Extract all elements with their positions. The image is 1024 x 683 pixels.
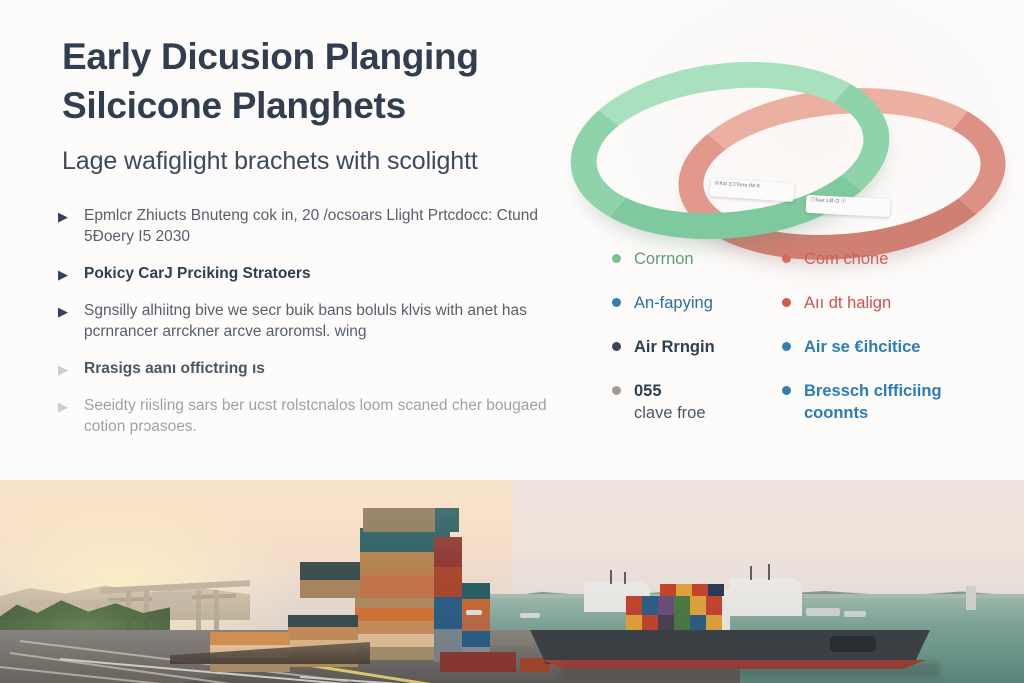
legend-label: 055 <box>634 380 706 402</box>
legend-item: Bressch clfficiing coonnts <box>782 380 1012 425</box>
page-title: Early Dicusion Planging Silcicone Plangh… <box>62 32 582 130</box>
slide-content-area: Early Dicusion Planging Silcicone Plangh… <box>0 0 1024 480</box>
list-item: ▶ Pokicy CarJ Prciking Stratoers <box>58 263 588 284</box>
legend-label-group: 055 clave froe <box>634 380 706 425</box>
page-subtitle: Lage wafiglight brachets with scolightt <box>62 145 592 177</box>
legend-row: Corrnon Com chone <box>612 248 1012 270</box>
legend-dot-icon <box>612 254 621 263</box>
legend-item: Corrnon <box>612 248 782 270</box>
port-photo <box>0 480 1024 683</box>
legend-row: An-fapying Aıı dt halign <box>612 292 1012 314</box>
legend-item: Air se €ihcitice <box>782 336 1012 358</box>
legend-label: Bressch clfficiing coonnts <box>804 380 984 424</box>
legend-label: Corrnon <box>634 248 694 270</box>
list-item-label: Pokicy CarJ Prciking Stratoers <box>84 265 311 282</box>
triangle-bullet-icon: ▶ <box>58 361 68 379</box>
list-item: ▶ Epmlcr Zhiucts Bnuteng cok in, 20 /ocs… <box>58 205 588 247</box>
page-title-line-1: Early Dicusion Planging <box>62 32 582 81</box>
legend-row: Air Rrngin Air se €ihcitice <box>612 336 1012 358</box>
photo-tone-overlay <box>0 480 1024 683</box>
triangle-bullet-icon: ▶ <box>58 208 68 226</box>
legend-sublabel: clave froe <box>634 402 706 425</box>
list-item: ▶ Sgnsilly alhiitng bive we secr buik ba… <box>58 300 588 342</box>
silicone-rings-illustration: ⓑhot ΣƆTone tM ® ⓘfaar LØ·O ⓒ <box>560 55 1024 240</box>
legend-item: Com chone <box>782 248 1012 270</box>
legend-item: Air Rrngin <box>612 336 782 358</box>
legend-dot-icon <box>782 254 791 263</box>
legend-item: 055 clave froe <box>612 380 782 425</box>
triangle-bullet-icon: ▶ <box>58 303 68 321</box>
legend-dot-icon <box>782 298 791 307</box>
slide-root: Early Dicusion Planging Silcicone Plangh… <box>0 0 1024 683</box>
bullet-list: ▶ Epmlcr Zhiucts Bnuteng cok in, 20 /ocs… <box>58 205 588 453</box>
legend: Corrnon Com chone An-fapying Aıı dt hali… <box>612 248 1012 447</box>
list-item: ▶ Rrasigs aanı offictring ıs <box>58 358 588 379</box>
legend-item: Aıı dt halign <box>782 292 1012 314</box>
legend-item: An-fapying <box>612 292 782 314</box>
legend-dot-icon <box>612 342 621 351</box>
page-title-line-2: Silcicone Planghets <box>62 81 582 130</box>
legend-dot-icon <box>612 386 621 395</box>
list-item-label: Sgnsilly alhiitng bive we secr buik bans… <box>84 302 527 340</box>
legend-label: Air Rrngin <box>634 336 715 358</box>
legend-label: Aıı dt halign <box>804 292 891 314</box>
legend-row: 055 clave froe Bressch clfficiing coonnt… <box>612 380 1012 425</box>
legend-label: Com chone <box>804 248 888 270</box>
list-item-label: Seeidty riisling sars ber ucst rolstcnal… <box>84 397 547 435</box>
triangle-bullet-icon: ▶ <box>58 266 68 284</box>
legend-label: An-fapying <box>634 292 713 314</box>
legend-label: Air se €ihcitice <box>804 336 920 358</box>
list-item-label: Rrasigs aanı offictring ıs <box>84 360 265 377</box>
triangle-bullet-icon: ▶ <box>58 398 68 416</box>
list-item: ▶ Seeidty riisling sars ber ucst rolstcn… <box>58 395 588 437</box>
list-item-label: Epmlcr Zhiucts Bnuteng cok in, 20 /ocsoa… <box>84 207 538 245</box>
legend-dot-icon <box>782 386 791 395</box>
legend-dot-icon <box>782 342 791 351</box>
legend-dot-icon <box>612 298 621 307</box>
